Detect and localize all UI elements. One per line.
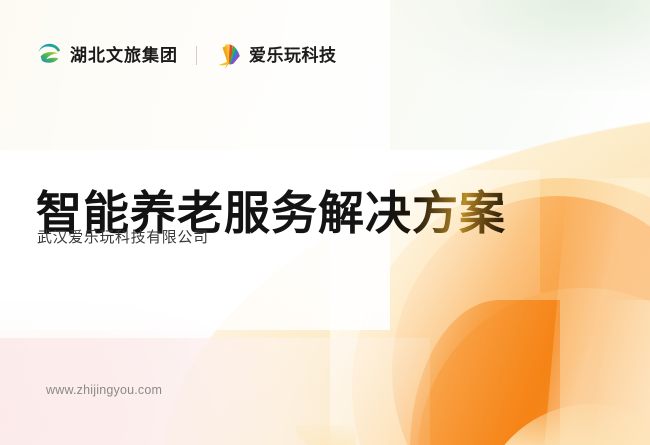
partner-logo-bar: 湖北文旅集团 爱乐玩科技 bbox=[36, 38, 337, 72]
background-cream-sweep bbox=[126, 117, 650, 445]
background-pink-glow bbox=[0, 300, 320, 445]
partner-logo-aileyuwan-label: 爱乐玩科技 bbox=[249, 47, 337, 64]
background-orange-disc-lower bbox=[418, 288, 650, 445]
partner-logo-separator bbox=[196, 46, 197, 65]
background-fold-highlight-1 bbox=[544, 178, 650, 445]
hubei-culture-tourism-circle-logo-icon bbox=[36, 42, 63, 69]
background-orange-disc-rim bbox=[410, 300, 560, 445]
website-url: www.zhijingyou.com bbox=[46, 383, 162, 397]
background-top-wash bbox=[0, 0, 650, 150]
slide-canvas: 湖北文旅集团 爱乐玩科技 智能养老服务解 bbox=[0, 0, 650, 445]
background-top-green-tint bbox=[380, 0, 650, 90]
partner-logo-aileyuwan: 爱乐玩科技 bbox=[214, 40, 337, 70]
page-subtitle-company: 武汉爱乐玩科技有限公司 bbox=[37, 226, 209, 247]
partner-logo-hubei-label: 湖北文旅集团 bbox=[70, 47, 178, 64]
partner-logo-hubei: 湖北文旅集团 bbox=[36, 42, 178, 69]
background-fold-highlight-2 bbox=[594, 300, 650, 445]
background-bottom-crescent bbox=[476, 404, 650, 445]
aileyuwan-fan-logo-icon bbox=[214, 40, 244, 70]
background-yellow-wedge bbox=[296, 425, 356, 445]
